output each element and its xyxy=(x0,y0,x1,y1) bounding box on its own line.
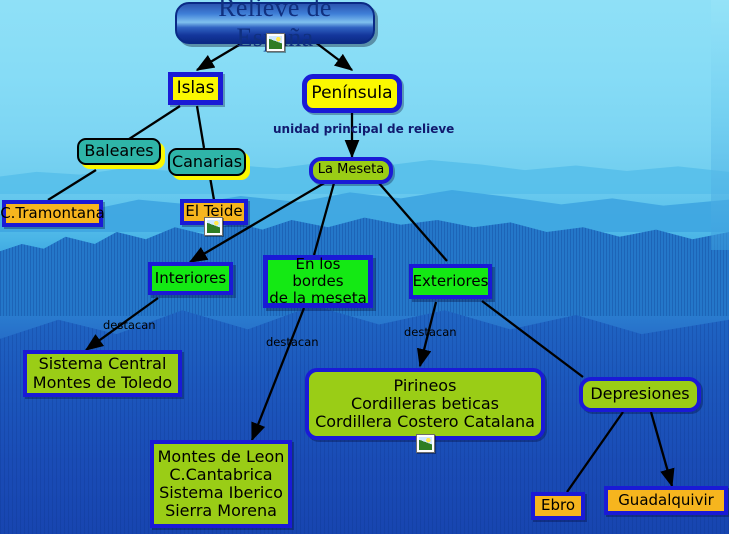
link-bordes-montes xyxy=(252,308,304,440)
node-depresiones[interactable]: Depresiones xyxy=(579,377,701,412)
image-icon-teide[interactable] xyxy=(204,217,223,236)
node-ebro[interactable]: Ebro xyxy=(531,492,585,520)
link-baleares-tramontana xyxy=(48,170,96,200)
node-interiores[interactable]: Interiores xyxy=(148,262,233,295)
node-peninsula[interactable]: Península xyxy=(302,74,402,113)
link-meseta-bordes xyxy=(314,183,334,255)
link-depresiones-ebro xyxy=(567,412,623,492)
node-exteriores[interactable]: Exteriores xyxy=(409,264,492,299)
link-label-unidad-principal: unidad principal de relieve xyxy=(273,122,454,136)
link-label-destacan-1: destacan xyxy=(103,318,156,332)
node-montes-de-leon[interactable]: Montes de Leon C.Cantabrica Sistema Iber… xyxy=(150,440,292,528)
node-islas[interactable]: Islas xyxy=(168,72,223,105)
link-meseta-exteriores xyxy=(378,182,447,261)
node-guadalquivir[interactable]: Guadalquivir xyxy=(604,486,728,515)
node-c-tramontana[interactable]: C.Tramontana xyxy=(2,200,103,227)
node-pirineos-cordilleras[interactable]: Pirineos Cordilleras beticas Cordillera … xyxy=(305,368,545,440)
image-icon-title[interactable] xyxy=(266,33,285,52)
link-islas-canarias xyxy=(197,106,204,148)
link-depresiones-guadalquivir xyxy=(651,412,672,486)
link-exteriores-depresiones xyxy=(482,301,583,377)
image-icon-pirineos[interactable] xyxy=(416,434,435,453)
node-en-los-bordes-de-la-meseta[interactable]: En los bordes de la meseta xyxy=(263,255,373,308)
node-sistema-central-montes-de-toledo[interactable]: Sistema Central Montes de Toledo xyxy=(23,350,182,397)
link-label-destacan-2: destacan xyxy=(266,335,319,349)
node-baleares[interactable]: Baleares xyxy=(77,138,161,165)
concept-map-canvas: Relieve de España Islas Península unidad… xyxy=(0,0,729,534)
node-la-meseta[interactable]: La Meseta xyxy=(309,157,393,184)
link-label-destacan-3: destacan xyxy=(404,325,457,339)
link-canarias-teide xyxy=(210,177,214,200)
node-canarias[interactable]: Canarias xyxy=(168,148,246,176)
